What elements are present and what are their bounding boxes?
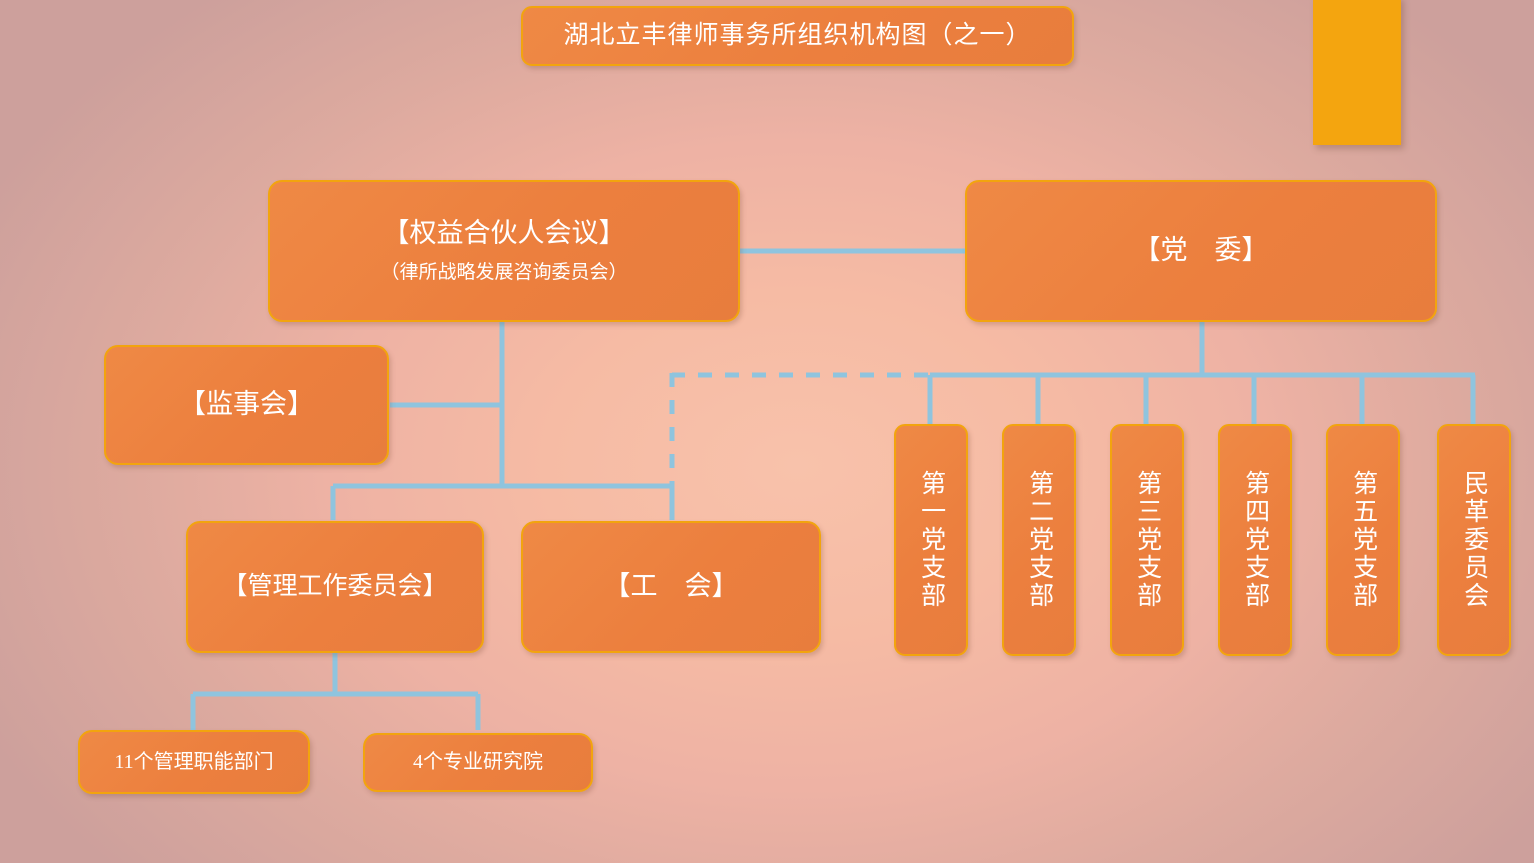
node-minge-committee-label: 民革委员会 xyxy=(1458,470,1489,610)
node-party-committee[interactable]: 【党 委】 xyxy=(965,180,1437,322)
chart-title: 湖北立丰律师事务所组织机构图（之一） xyxy=(521,6,1074,66)
node-party-branch-5-label: 第五党支部 xyxy=(1347,470,1378,610)
chart-title-text: 湖北立丰律师事务所组织机构图（之一） xyxy=(563,20,1031,51)
node-party-branch-4[interactable]: 第四党支部 xyxy=(1218,424,1292,656)
node-supervisory-board[interactable]: 【监事会】 xyxy=(104,345,389,465)
node-management-committee-label: 【管理工作委员会】 xyxy=(222,571,447,602)
node-party-branch-1-label: 第一党支部 xyxy=(915,470,946,610)
node-party-branch-1[interactable]: 第一党支部 xyxy=(894,424,968,656)
node-minge-committee[interactable]: 民革委员会 xyxy=(1437,424,1511,656)
node-functional-departments-label: 11个管理职能部门 xyxy=(114,750,273,775)
node-party-committee-label: 【党 委】 xyxy=(1134,234,1269,268)
node-party-branch-5[interactable]: 第五党支部 xyxy=(1326,424,1400,656)
node-labor-union[interactable]: 【工 会】 xyxy=(521,521,821,653)
node-party-branch-3-label: 第三党支部 xyxy=(1131,470,1162,610)
node-partners-meeting-label: 【权益合伙人会议】 xyxy=(383,217,626,251)
node-party-branch-2-label: 第二党支部 xyxy=(1023,470,1054,610)
node-supervisory-board-label: 【监事会】 xyxy=(179,388,314,422)
node-partners-meeting[interactable]: 【权益合伙人会议】 （律所战略发展咨询委员会） xyxy=(268,180,740,322)
node-party-branch-3[interactable]: 第三党支部 xyxy=(1110,424,1184,656)
org-chart-canvas: 湖北立丰律师事务所组织机构图（之一） 【权益合伙人会议】 （律所战略发展咨询委员… xyxy=(0,0,1534,863)
node-partners-meeting-sublabel: （律所战略发展咨询委员会） xyxy=(380,261,627,285)
node-labor-union-label: 【工 会】 xyxy=(604,570,739,604)
node-functional-departments[interactable]: 11个管理职能部门 xyxy=(78,730,310,794)
node-party-branch-2[interactable]: 第二党支部 xyxy=(1002,424,1076,656)
node-party-branch-4-label: 第四党支部 xyxy=(1239,470,1270,610)
node-management-committee[interactable]: 【管理工作委员会】 xyxy=(186,521,484,653)
node-research-institutes[interactable]: 4个专业研究院 xyxy=(363,733,593,792)
node-research-institutes-label: 4个专业研究院 xyxy=(413,750,543,775)
